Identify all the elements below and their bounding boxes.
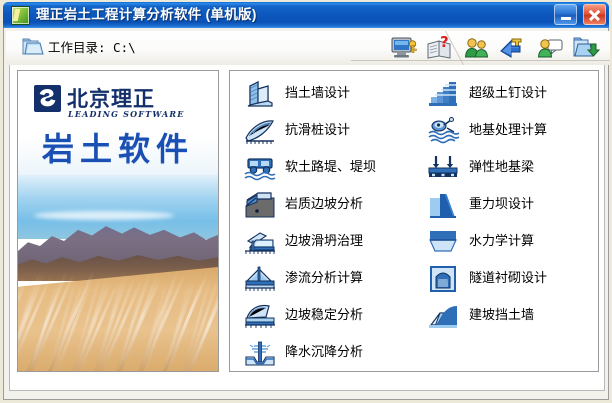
menu-item-foundation-treatment[interactable]: 地基处理计算 [423, 116, 593, 146]
menu-item-label: 重力坝设计 [469, 196, 534, 214]
slope-stability-icon [244, 301, 276, 331]
help-book-icon[interactable]: ? [426, 35, 454, 61]
users-icon[interactable] [463, 35, 491, 61]
cloud-layer [34, 211, 174, 220]
module-menu-panel: 挡土墙设计抗滑桩设计软土路堤、堤坝岩质边坡分析边坡滑坍治理渗流分析计算边坡稳定分… [229, 70, 599, 372]
app-icon [11, 6, 30, 25]
soft-soil-embankment-icon [244, 153, 276, 183]
elastic-beam-icon [427, 153, 459, 183]
menu-item-elastic-beam[interactable]: 弹性地基梁 [423, 153, 593, 183]
menu-item-seepage[interactable]: 渗流分析计算 [240, 264, 420, 294]
work-directory-label: 工作目录: C:\ [48, 39, 136, 57]
desert-dunes-photo [18, 175, 218, 372]
menu-item-label: 岩质边坡分析 [285, 196, 363, 214]
product-title: 岩土软件 [18, 124, 218, 170]
banner-header: 北京理正 LEADING SOFTWARE 岩土软件 [18, 71, 218, 179]
menu-item-label: 弹性地基梁 [469, 159, 534, 177]
open-folder-icon [22, 37, 44, 56]
monitor-key-icon[interactable] [390, 35, 418, 61]
title-bar: 理正岩土工程计算分析软件 (单机版) [3, 2, 609, 28]
menu-item-label: 边坡滑坍治理 [285, 233, 363, 251]
toolbar-buttons: ? [386, 35, 600, 61]
menu-item-label: 建坡挡土墙 [469, 307, 534, 325]
menu-item-slope-stability[interactable]: 边坡稳定分析 [240, 301, 420, 331]
anti-slide-pile-icon [244, 116, 276, 146]
minimize-button[interactable] [554, 4, 577, 25]
menu-item-soft-soil-embankment[interactable]: 软土路堤、堤坝 [240, 153, 420, 183]
menu-item-label: 抗滑桩设计 [285, 122, 350, 140]
window-controls [552, 4, 606, 26]
close-button[interactable] [583, 4, 606, 25]
window-title: 理正岩土工程计算分析软件 (单机版) [36, 5, 257, 25]
company-name-en: LEADING SOFTWARE [68, 109, 185, 119]
menu-item-label: 挡土墙设计 [285, 85, 350, 103]
menu-item-label: 水力学计算 [469, 233, 534, 251]
application-window: 理正岩土工程计算分析软件 (单机版) 工作目录: C:\ [0, 0, 612, 403]
user-message-icon[interactable] [536, 35, 564, 61]
dune-ripples [18, 267, 218, 372]
menu-item-anti-slide-pile[interactable]: 抗滑桩设计 [240, 116, 420, 146]
dewatering-settlement-icon [244, 338, 276, 368]
foundation-treatment-icon [427, 116, 459, 146]
hydraulics-icon [427, 227, 459, 257]
menu-item-label: 地基处理计算 [469, 122, 547, 140]
gravity-dam-icon [427, 190, 459, 220]
leading-diamond-logo-icon [34, 85, 61, 112]
menu-column-right: 超级土钉设计地基处理计算弹性地基梁重力坝设计水力学计算隧道衬砌设计建坡挡土墙 [423, 79, 593, 338]
menu-item-retaining-wall[interactable]: 挡土墙设计 [240, 79, 420, 109]
folder-download-icon[interactable] [572, 35, 600, 61]
svg-text:?: ? [440, 35, 449, 51]
menu-item-dewatering-settlement[interactable]: 降水沉降分析 [240, 338, 420, 368]
tunnel-lining-icon [427, 264, 459, 294]
sky-layer [18, 175, 218, 239]
menu-item-label: 降水沉降分析 [285, 344, 363, 362]
menu-item-slope-retaining-wall[interactable]: 建坡挡土墙 [423, 301, 593, 331]
menu-item-hydraulics[interactable]: 水力学计算 [423, 227, 593, 257]
menu-item-rock-slope[interactable]: 岩质边坡分析 [240, 190, 420, 220]
rock-slope-icon [244, 190, 276, 220]
slope-collapse-icon [244, 227, 276, 257]
menu-item-slope-collapse[interactable]: 边坡滑坍治理 [240, 227, 420, 257]
slope-retaining-wall-icon [427, 301, 459, 331]
menu-item-label: 边坡稳定分析 [285, 307, 363, 325]
blue-arrow-phone-icon[interactable] [499, 35, 527, 61]
menu-column-left: 挡土墙设计抗滑桩设计软土路堤、堤坝岩质边坡分析边坡滑坍治理渗流分析计算边坡稳定分… [240, 79, 420, 375]
menu-item-tunnel-lining[interactable]: 隧道衬砌设计 [423, 264, 593, 294]
menu-item-label: 软土路堤、堤坝 [285, 159, 376, 177]
menu-item-label: 隧道衬砌设计 [469, 270, 547, 288]
menu-item-soil-nail[interactable]: 超级土钉设计 [423, 79, 593, 109]
menu-item-label: 超级土钉设计 [469, 85, 547, 103]
toolbar: 工作目录: C:\ ? [6, 31, 610, 65]
menu-item-label: 渗流分析计算 [285, 270, 363, 288]
brand-banner: 北京理正 LEADING SOFTWARE 岩土软件 [17, 70, 219, 372]
retaining-wall-icon [244, 79, 276, 109]
soil-nail-icon [427, 79, 459, 109]
seepage-icon [244, 264, 276, 294]
company-logo: 北京理正 LEADING SOFTWARE [34, 85, 204, 115]
menu-item-gravity-dam[interactable]: 重力坝设计 [423, 190, 593, 220]
